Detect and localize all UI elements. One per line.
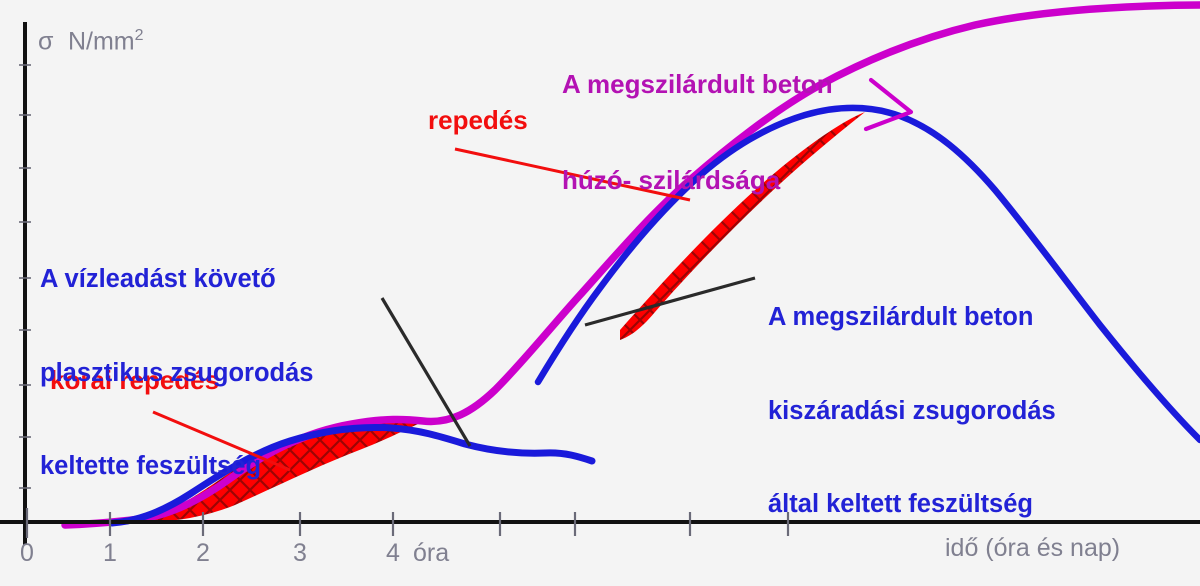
annotation-plastic-shrinkage-line2: plasztikus zsugorodás (40, 358, 313, 389)
y-axis-sigma-symbol: σ (38, 27, 54, 55)
annotation-drying-shrinkage-line3: által keltett feszültség (768, 489, 1056, 520)
annotation-drying-shrinkage-line1: A megszilárdult beton (768, 302, 1056, 333)
annotation-plastic-shrinkage-line1: A vízleadást követő (40, 264, 313, 295)
x-tick-label-4: 4 (378, 538, 408, 569)
annotation-drying-shrinkage-line2: kiszáradási zsugorodás (768, 396, 1056, 427)
annotation-tensile-strength-line2: húzó- szilárdsága (562, 165, 833, 197)
annotation-crack: repedés (428, 105, 528, 137)
y-axis-unit: N/mm (68, 27, 135, 55)
x-tick-unit-label: óra (413, 538, 449, 569)
y-axis-exponent: 2 (135, 27, 144, 44)
annotation-tensile-strength-line1: A megszilárdult beton (562, 69, 833, 101)
x-tick-label-0: 0 (12, 538, 42, 569)
chart-figure: σN/mm2 0 1 2 3 4 óra idő (óra és nap) A … (0, 0, 1200, 586)
leader-arrow-tensile-strength (866, 80, 911, 129)
annotation-tensile-strength: A megszilárdult beton húzó- szilárdsága (562, 6, 833, 260)
annotation-plastic-shrinkage-line3: keltette feszültség (40, 451, 313, 482)
y-axis-label: σN/mm2 (38, 26, 144, 57)
annotation-drying-shrinkage: A megszilárdult beton kiszáradási zsugor… (768, 240, 1056, 582)
annotation-plastic-shrinkage: A vízleadást követő plasztikus zsugorodá… (40, 202, 313, 544)
